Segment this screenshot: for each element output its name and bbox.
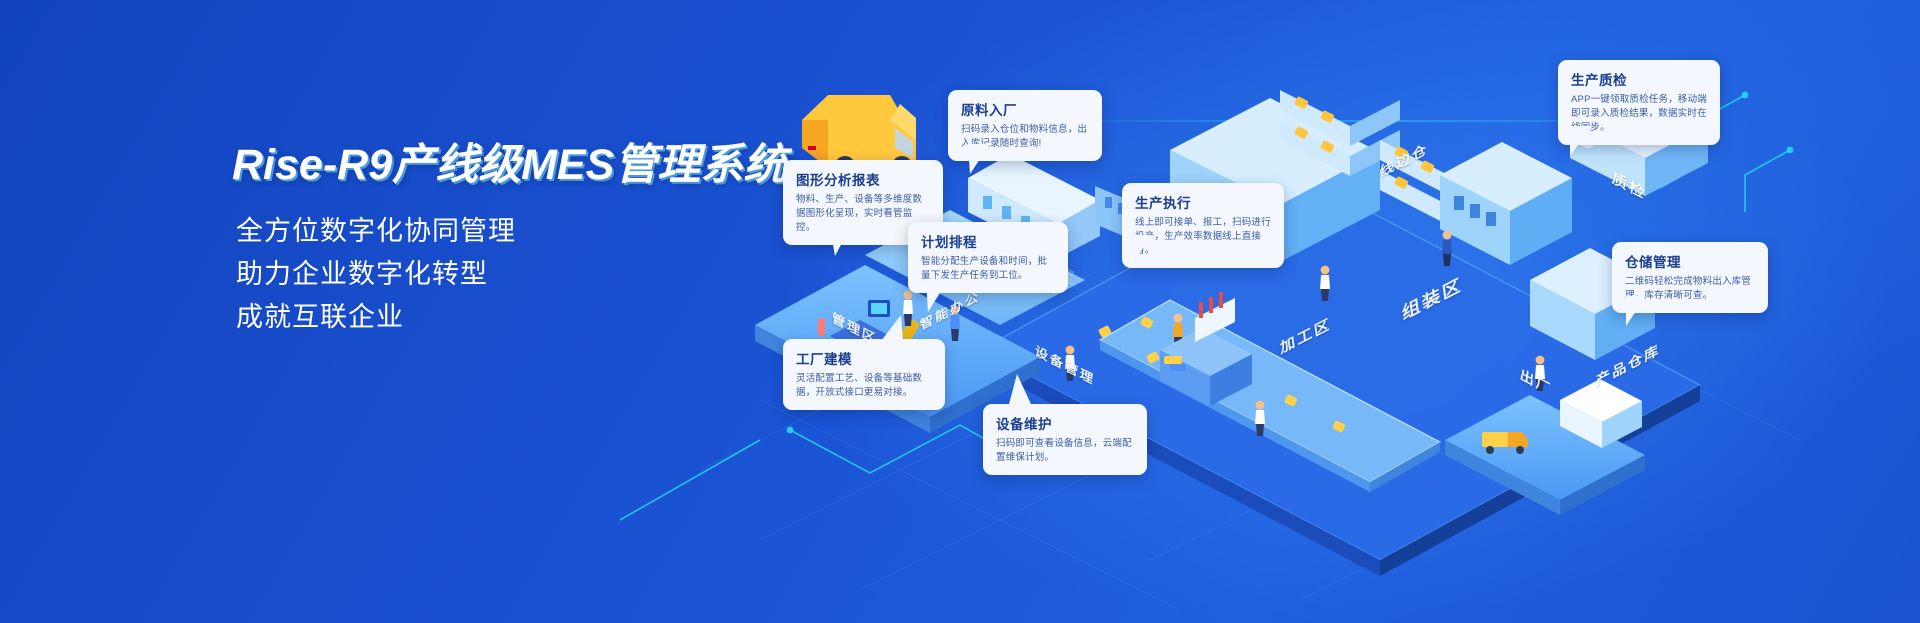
- callout-title: 仓储管理: [1625, 251, 1755, 271]
- callout-tail-icon: [966, 144, 992, 176]
- callout-tail-icon: [1624, 296, 1648, 328]
- callout-tail-icon: [1007, 378, 1033, 406]
- subtitle-block: 全方位数字化协同管理 助力企业数字化转型 成就互联企业: [236, 210, 516, 339]
- callout-title: 生产执行: [1135, 192, 1271, 212]
- callout-tail-icon: [827, 222, 855, 258]
- page-title: Rise-R9产线级MES管理系统: [232, 130, 786, 192]
- callout-title: 设备维护: [996, 413, 1134, 433]
- callout-production-execution[interactable]: 生产执行 线上即可接单、报工，扫码进行投产，生产效率数据线上直接看。: [1122, 183, 1284, 268]
- callout-body: 智能分配生产设备和时间，批量下发生产任务到工位。: [921, 255, 1055, 283]
- callout-body: 扫码即可查看设备信息，云端配置维保计划。: [996, 437, 1134, 465]
- callout-tail-icon: [1130, 235, 1154, 269]
- callout-factory-modeling[interactable]: 工厂建模 灵活配置工艺、设备等基础数据，开放式接口更易对接。: [783, 339, 945, 410]
- callout-title: 生产质检: [1571, 69, 1707, 89]
- subtitle-line-1: 全方位数字化协同管理: [236, 210, 516, 253]
- subtitle-line-3: 成就互联企业: [236, 296, 516, 339]
- callout-production-quality-inspection[interactable]: 生产质检 APP一键领取质检任务，移动端即可录入质检结果，数据实时在线同步。: [1558, 60, 1720, 145]
- callout-body: 线上即可接单、报工，扫码进行投产，生产效率数据线上直接看。: [1135, 216, 1271, 258]
- callout-raw-material-inbound[interactable]: 原料入厂 扫码录入仓位和物料信息，出入库记录随时查询!: [948, 90, 1102, 161]
- callout-body: 灵活配置工艺、设备等基础数据，开放式接口更易对接。: [796, 372, 932, 400]
- subtitle-line-2: 助力企业数字化转型: [236, 253, 516, 296]
- callout-plan-scheduling[interactable]: 计划排程 智能分配生产设备和时间，批量下发生产任务到工位。: [908, 222, 1068, 293]
- callout-tail-icon: [924, 280, 950, 314]
- callout-title: 图形分析报表: [796, 169, 930, 189]
- callout-tail-icon: [1568, 126, 1594, 158]
- callout-equipment-maintenance[interactable]: 设备维护 扫码即可查看设备信息，云端配置维保计划。: [983, 404, 1147, 475]
- callout-title: 工厂建模: [796, 348, 932, 368]
- callout-tail-icon: [879, 317, 905, 341]
- callout-title: 计划排程: [921, 231, 1055, 251]
- callout-title: 原料入厂: [961, 99, 1089, 119]
- mes-hero-banner: Rise-R9产线级MES管理系统 全方位数字化协同管理 助力企业数字化转型 成…: [0, 0, 1920, 623]
- isometric-factory-illustration: 管理区 原料仓库 智能办公 线边仓 组装区 加工区 设备管理 质检 出厂 产品仓…: [740, 0, 1920, 623]
- callout-warehouse-management[interactable]: 仓储管理 二维码轻松完成物料出入库管理，库存清晰可查。: [1612, 242, 1768, 313]
